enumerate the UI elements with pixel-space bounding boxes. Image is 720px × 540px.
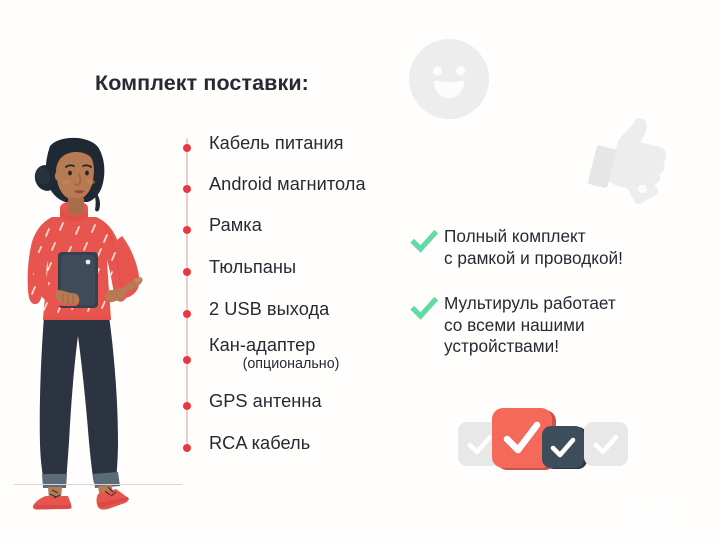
list-item-label: GPS антенна bbox=[209, 391, 322, 412]
list-item-label: Кабель питания bbox=[209, 133, 344, 154]
list-item-label: Android магнитола bbox=[209, 174, 366, 195]
bullet-dot bbox=[183, 226, 191, 234]
page-title: Комплект поставки: bbox=[95, 71, 309, 96]
list-item-label: 2 USB выхода bbox=[209, 299, 329, 320]
benefit-text: Мультируль работает со всеми нашими устр… bbox=[444, 293, 616, 358]
bullet-dot bbox=[183, 310, 191, 318]
check-icon bbox=[410, 295, 438, 323]
spec-list: Кабель питания Android магнитола Рамка Т… bbox=[183, 128, 443, 463]
benefit-text: Полный комплект с рамкой и проводкой! bbox=[444, 226, 623, 269]
avito-watermark: Avito bbox=[620, 500, 684, 522]
avito-logo-icon bbox=[620, 503, 637, 520]
checkbox-card-cluster bbox=[458, 404, 628, 488]
bullet-dot bbox=[183, 356, 191, 364]
check-icon bbox=[410, 228, 438, 256]
poster-canvas: Комплект поставки: Кабель питания Androi… bbox=[0, 0, 720, 540]
list-item-label: Тюльпаны bbox=[209, 257, 296, 278]
avito-wordmark: Avito bbox=[640, 500, 684, 522]
bullet-dot bbox=[183, 268, 191, 276]
checkbox-card-navy bbox=[542, 426, 584, 468]
bullet-dot bbox=[183, 144, 191, 152]
list-item-label: RCA кабель bbox=[209, 433, 310, 454]
list-item-label: Кан-адаптер bbox=[209, 335, 315, 356]
checkbox-card-gray-right bbox=[584, 422, 628, 466]
list-item-label: Рамка bbox=[209, 215, 262, 236]
ground-line bbox=[14, 484, 182, 485]
bullet-dot bbox=[183, 444, 191, 452]
smiley-face-icon bbox=[408, 38, 490, 120]
bullet-dot bbox=[183, 402, 191, 410]
bullet-dot bbox=[183, 185, 191, 193]
woman-pointing-illustration bbox=[8, 104, 178, 510]
thumbs-up-icon bbox=[583, 115, 675, 210]
list-item-sublabel: (опционально) bbox=[209, 356, 373, 372]
